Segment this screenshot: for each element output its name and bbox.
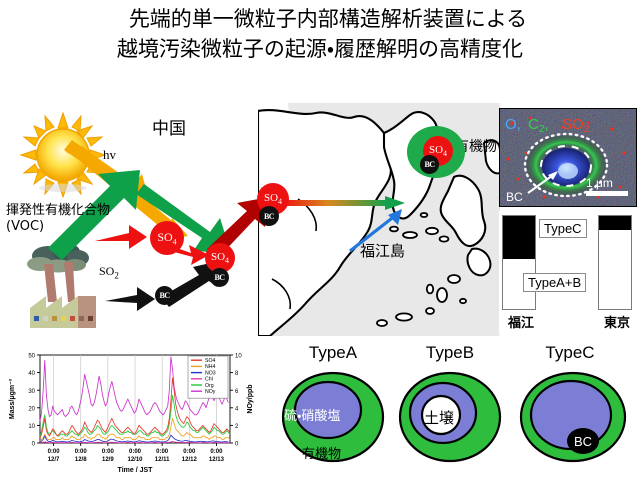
micrograph-channel-c2: C2,: [528, 116, 549, 135]
bar-tokyo-typec-segment: [599, 216, 631, 230]
timeseries-chart: 0102030405002468100:0012/70:0012/80:0012…: [4, 345, 266, 477]
particle-label-bc: BC: [264, 212, 274, 221]
micrograph-channel-o: O,: [505, 116, 521, 133]
type-fraction-barchart: 福江 東京 TypeC TypeA+B: [499, 211, 635, 335]
type-a-title: TypeA: [278, 343, 388, 363]
micrograph-image: O, C2, SO2 BC 1 μm: [500, 109, 636, 206]
svg-text:NH4: NH4: [205, 364, 215, 370]
title-line-1: 先端的単一微粒子内部構造解析装置による: [0, 4, 640, 34]
svg-text:0:00: 0:00: [156, 449, 169, 455]
svg-text:12/7: 12/7: [48, 457, 60, 463]
type-a-outer-label: 有機物: [302, 443, 341, 462]
svg-text:0:00: 0:00: [48, 449, 61, 455]
svg-text:0:00: 0:00: [75, 449, 88, 455]
svg-text:10: 10: [235, 354, 242, 360]
label-voc: 揮発性有機化合物 (VOC): [6, 203, 110, 235]
svg-text:10: 10: [28, 424, 35, 430]
particle-label-so4: SO4: [157, 230, 176, 246]
particle-type-a-diagram: TypeA 硫・硝酸塩 有機物: [278, 343, 388, 473]
svg-text:4: 4: [235, 406, 239, 412]
bar-fukue-typec-segment: [503, 216, 535, 259]
svg-text:NOy/ppb: NOy/ppb: [247, 384, 254, 413]
label-so2-emission: SO2: [99, 264, 119, 280]
legend-typeab: TypeA+B: [523, 273, 586, 292]
bar-label-tokyo: 東京: [587, 312, 640, 331]
timeseries-plot: 0102030405002468100:0012/70:0012/80:0012…: [4, 345, 266, 477]
svg-text:Time / JST: Time / JST: [118, 467, 154, 474]
type-c-bc-label: BC: [574, 434, 592, 449]
bar-tokyo: [598, 215, 632, 310]
svg-text:8: 8: [235, 371, 239, 377]
particle-label-so4: SO4: [264, 192, 282, 206]
svg-text:20: 20: [28, 406, 35, 412]
micrograph-bc-label: BC: [506, 190, 523, 204]
particle-type-c-diagram: TypeC BC: [515, 343, 633, 473]
type-c-graphic: BC: [515, 365, 633, 465]
type-c-title: TypeC: [515, 343, 625, 363]
svg-text:2: 2: [235, 424, 239, 430]
svg-text:30: 30: [28, 389, 35, 395]
micrograph-scalebar-label: 1 μm: [586, 176, 613, 190]
svg-text:12/10: 12/10: [127, 457, 143, 463]
bar-fukue: [502, 215, 536, 310]
particle-label-bc: BC: [424, 160, 434, 169]
type-b-title: TypeB: [395, 343, 505, 363]
particle-bc-primary: BC: [155, 286, 174, 305]
bar-label-fukue: 福江: [491, 312, 551, 331]
type-a-inner-label: 硫・硝酸塩: [284, 405, 340, 424]
svg-text:0: 0: [32, 442, 36, 448]
svg-text:SO4: SO4: [205, 358, 215, 364]
svg-text:Mass/μgm⁻³: Mass/μgm⁻³: [9, 378, 16, 419]
svg-text:0: 0: [235, 442, 239, 448]
particle-bc-inclusion: BC: [420, 155, 439, 174]
label-hv: hv: [103, 147, 116, 163]
label-voc-japanese: 揮発性有機化合物: [6, 203, 110, 219]
svg-text:12/13: 12/13: [209, 457, 225, 463]
fukue-pointer-arrow: [346, 207, 406, 255]
map-label-china: 中国: [152, 114, 186, 139]
svg-text:NOy: NOy: [205, 389, 216, 395]
svg-text:Org: Org: [205, 383, 214, 389]
particle-micrograph: O, C2, SO2 BC 1 μm: [499, 108, 637, 207]
particle-label-bc: BC: [214, 273, 224, 282]
svg-text:0:00: 0:00: [129, 449, 142, 455]
type-b-inner-label: 土壌: [424, 407, 454, 428]
svg-text:6: 6: [235, 389, 239, 395]
particle-organic-coated: SO4 BC: [407, 126, 465, 178]
particle-so4-primary: SO4: [150, 221, 184, 255]
svg-text:12/8: 12/8: [75, 457, 87, 463]
svg-text:Chl: Chl: [205, 377, 213, 383]
particle-label-so4: SO4: [211, 251, 229, 265]
particle-bc-coastal: BC: [259, 206, 279, 226]
page-title: 先端的単一微粒子内部構造解析装置による 越境汚染微粒子の起源・履歴解明の高精度化: [0, 4, 640, 64]
particle-type-b-diagram: TypeB 土壌: [395, 343, 505, 473]
svg-text:NO3: NO3: [205, 370, 216, 376]
svg-text:0:00: 0:00: [210, 449, 223, 455]
legend-typec: TypeC: [539, 219, 587, 238]
svg-text:0:00: 0:00: [102, 449, 115, 455]
sulfate-growth-arrows: [95, 175, 275, 265]
label-voc-abbrev: (VOC): [6, 219, 110, 235]
black-carbon-arrows: [105, 255, 265, 325]
particle-label-bc: BC: [159, 291, 169, 300]
svg-text:12/11: 12/11: [155, 457, 170, 463]
svg-text:40: 40: [28, 371, 35, 377]
svg-text:12/9: 12/9: [102, 457, 114, 463]
title-line-2: 越境汚染微粒子の起源・履歴解明の高精度化: [0, 34, 640, 64]
particle-bc-attached: BC: [210, 268, 229, 287]
svg-text:50: 50: [28, 354, 35, 360]
svg-text:12/12: 12/12: [182, 457, 198, 463]
svg-text:0:00: 0:00: [183, 449, 196, 455]
